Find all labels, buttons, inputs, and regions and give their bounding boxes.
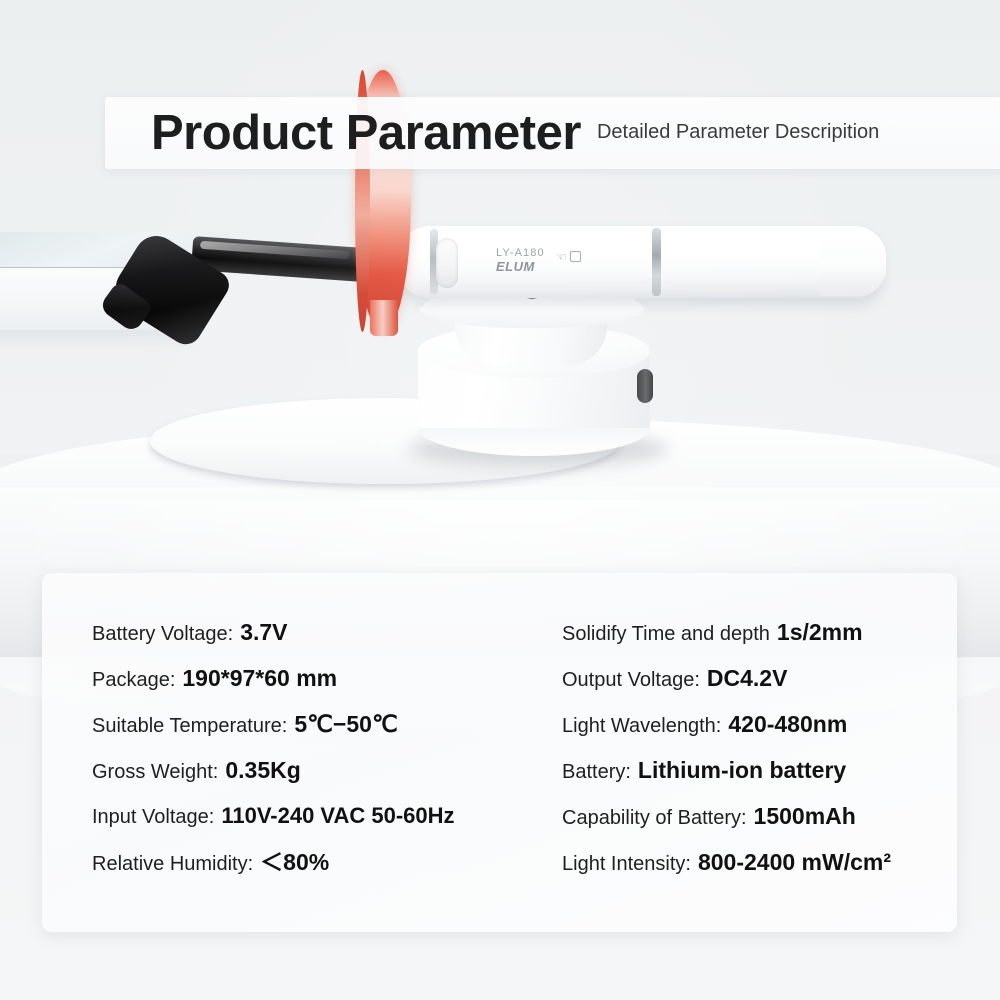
spec-label: Gross Weight: — [92, 762, 218, 782]
light-guide-assembly — [100, 228, 356, 328]
handpiece-symbol-icons: ☜ — [556, 250, 581, 264]
header-banner: Product Parameter Detailed Parameter Des… — [105, 97, 1000, 169]
spec-row-suitable-temperature: Suitable Temperature: 5℃−50℃ — [92, 713, 562, 736]
page-title: Product Parameter — [151, 105, 581, 161]
spec-label: Suitable Temperature: — [92, 716, 287, 736]
spec-value: 1s/2mm — [777, 621, 863, 644]
spec-row-battery-voltage: Battery Voltage: 3.7V — [92, 621, 562, 644]
spec-label: Solidify Time and depth — [562, 624, 770, 644]
spec-value: DC4.2V — [707, 667, 788, 690]
handpiece-highlight — [404, 236, 874, 252]
spec-row-relative-humidity: Relative Humidity: ＜80% — [92, 851, 562, 874]
spec-value: 5℃−50℃ — [294, 713, 397, 736]
spec-row-output-voltage: Output Voltage: DC4.2V — [562, 667, 907, 690]
spec-row-light-wavelength: Light Wavelength: 420-480nm — [562, 713, 907, 736]
handpiece-chrome-ring-rear — [652, 228, 661, 296]
spec-value: 1500mAh — [754, 805, 856, 828]
specifications-panel: Battery Voltage: 3.7V Solidify Time and … — [42, 573, 957, 932]
spec-value: Lithium-ion battery — [638, 759, 846, 782]
spec-label: Input Voltage: — [92, 807, 214, 827]
class-ii-box-icon — [570, 251, 581, 262]
spec-label: Light Intensity: — [562, 854, 691, 874]
spec-label: Relative Humidity: — [92, 854, 253, 874]
spec-row-battery-capability: Capability of Battery: 1500mAh — [562, 805, 907, 828]
spec-row-input-voltage: Input Voltage: 110V-240 VAC 50-60Hz — [92, 805, 562, 827]
spec-label: Battery: — [562, 762, 631, 782]
handpiece-power-button — [436, 238, 458, 288]
spec-label: Output Voltage: — [562, 670, 700, 690]
spec-value: 110V-240 VAC 50-60Hz — [221, 805, 454, 827]
spec-row-gross-weight: Gross Weight: 0.35Kg — [92, 759, 562, 782]
spec-row-solidify-time: Solidify Time and depth 1s/2mm — [562, 621, 907, 644]
spec-label: Package: — [92, 670, 175, 690]
spec-value: 190*97*60 mm — [182, 667, 337, 690]
spec-value: 800-2400 mW/cm² — [698, 851, 891, 874]
light-shield-stem — [370, 300, 398, 336]
spec-label: Light Wavelength: — [562, 716, 721, 736]
spec-value: 0.35Kg — [225, 759, 300, 782]
page-subtitle: Detailed Parameter Descripition — [597, 121, 879, 146]
spec-value: 3.7V — [240, 621, 287, 644]
spec-label: Capability of Battery: — [562, 808, 747, 828]
spec-row-battery-type: Battery: Lithium-ion battery — [562, 759, 907, 782]
person-icon: ☜ — [556, 250, 567, 264]
spec-row-light-intensity: Light Intensity: 800-2400 mW/cm² — [562, 851, 907, 874]
spec-label: Battery Voltage: — [92, 624, 233, 644]
charging-port-icon — [637, 369, 653, 403]
spec-row-package: Package: 190*97*60 mm — [92, 667, 562, 690]
spec-value: 420-480nm — [728, 713, 847, 736]
spec-value: ＜80% — [260, 851, 329, 874]
specifications-grid: Battery Voltage: 3.7V Solidify Time and … — [92, 621, 907, 897]
